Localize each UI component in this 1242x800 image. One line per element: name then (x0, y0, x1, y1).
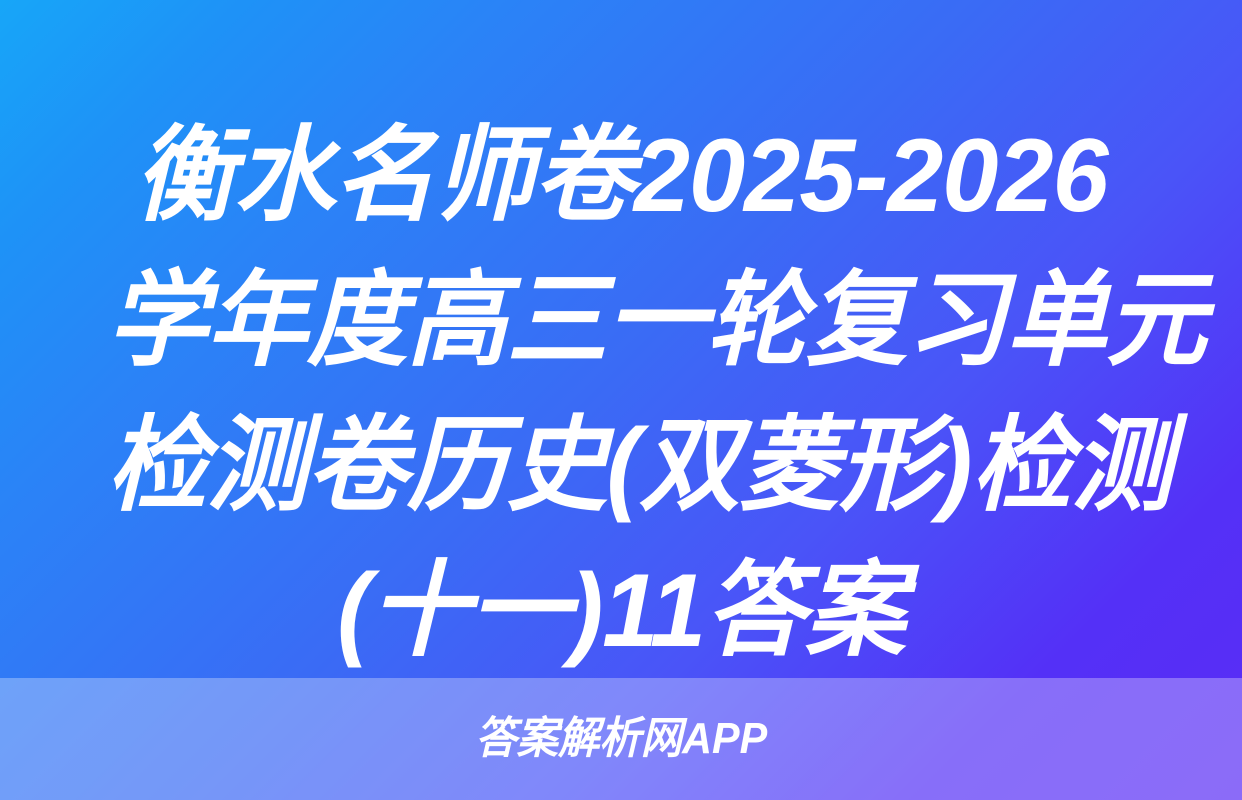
title-line-2: 学年度高三一轮复习单元 (107, 249, 1135, 394)
title-line-4: (十一)11答案 (107, 539, 1135, 684)
title-line-1: 衡水名师卷2025-2026 (107, 104, 1135, 249)
answer-card: 衡水名师卷2025-2026 学年度高三一轮复习单元 检测卷历史(双菱形)检测 … (0, 0, 1242, 800)
watermark-band: 答案解析网APP (0, 678, 1242, 800)
title-line-3: 检测卷历史(双菱形)检测 (107, 394, 1135, 539)
watermark-label: 答案解析网APP (475, 713, 767, 765)
